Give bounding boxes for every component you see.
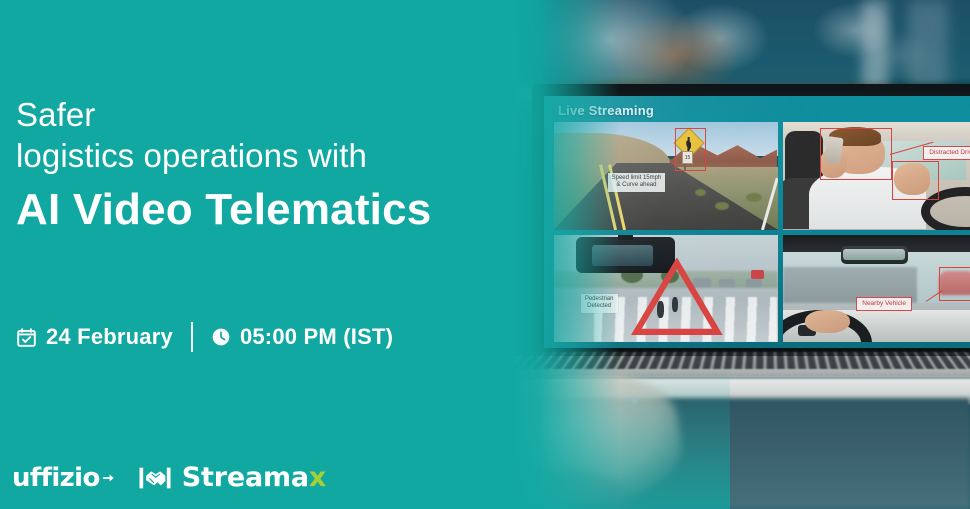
event-date-group: 24 February	[16, 324, 173, 350]
text-content: Safer logistics operations with AI Video…	[0, 0, 560, 509]
arrow-right-icon	[102, 471, 116, 485]
event-date: 24 February	[46, 324, 173, 350]
detection-box-face	[820, 128, 892, 180]
headline-line-1: Safer	[16, 95, 556, 135]
uffizio-logo[interactable]: uffizio	[12, 463, 116, 493]
headline-line-2: logistics operations with	[16, 135, 556, 177]
streamax-x-letter: x	[309, 462, 326, 493]
detection-box-sign	[675, 128, 706, 171]
driver-hand	[805, 310, 850, 334]
wall-strip-secondary	[908, 0, 948, 95]
video-panel-distracted-driver[interactable]: Distracted Driver	[783, 122, 970, 230]
video-panel-nearby-vehicle[interactable]: Nearby Vehicle	[783, 235, 970, 343]
calendar-check-icon	[16, 327, 37, 348]
streamax-word-text: Streama	[182, 462, 309, 493]
shop-sign	[751, 270, 764, 279]
handshake-icon	[138, 465, 172, 491]
event-meta: 24 February 05:00 PM (IST)	[16, 322, 393, 352]
uffizio-wordmark: uffizio	[12, 463, 100, 493]
chip-nearby-vehicle: Nearby Vehicle	[856, 297, 912, 311]
chip-distracted-driver: Distracted Driver	[923, 146, 970, 160]
webinar-banner: Live Streaming 15	[0, 0, 970, 509]
headline-line-3: AI Video Telematics	[16, 181, 556, 238]
event-time-group: 05:00 PM (IST)	[211, 324, 393, 350]
streamax-logo[interactable]: Streamax	[138, 462, 326, 493]
wall-strip	[862, 0, 888, 95]
streamax-wordmark: Streamax	[182, 462, 326, 493]
warning-triangle-icon	[621, 258, 733, 335]
detection-box-vehicle	[939, 267, 970, 301]
detection-box-hand	[892, 161, 939, 201]
rearview-mirror	[841, 246, 908, 263]
logo-row: uffizio	[12, 462, 326, 493]
event-time: 05:00 PM (IST)	[240, 324, 393, 350]
headline-block: Safer logistics operations with AI Video…	[16, 95, 556, 238]
meta-divider	[191, 322, 193, 352]
mirror-glass	[843, 249, 905, 260]
clock-icon	[211, 327, 231, 347]
